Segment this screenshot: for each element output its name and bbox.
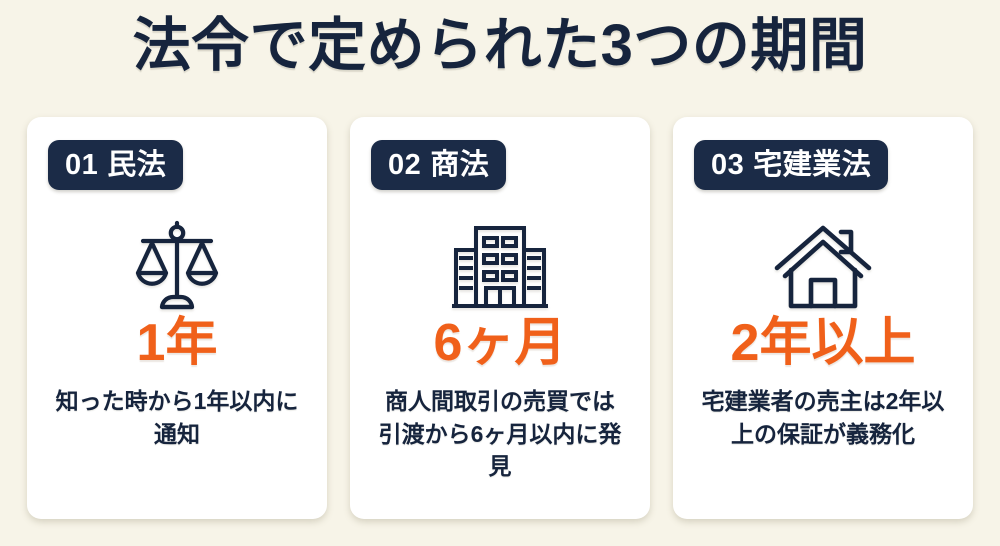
card-minpo[interactable]: 01 民法 [27, 117, 327, 519]
badge-03: 03 宅建業法 [694, 140, 888, 190]
badge-text-01: 01 民法 [65, 151, 166, 180]
badge-text-03: 03 宅建業法 [711, 151, 871, 180]
headline-02: 6ヶ月 [350, 315, 650, 372]
badge-number-03: 03 [711, 151, 744, 180]
badge-number-02: 02 [388, 151, 421, 180]
description-03: 宅建業者の売主は2年以上の保証が義務化 [697, 385, 949, 450]
badge-law-02: 商法 [430, 151, 489, 180]
description-01: 知った時から1年以内に通知 [51, 385, 303, 450]
description-02: 商人間取引の売買では引渡から6ヶ月以内に発見 [374, 385, 626, 483]
badge-law-01: 民法 [107, 151, 166, 180]
card-takken[interactable]: 03 宅建業法 2年以上 宅建業者の売主は2年以上の保証が [673, 117, 973, 519]
page-title-container: 法令で定められた3つの期間 [0, 14, 1000, 79]
badge-02: 02 商法 [371, 140, 506, 190]
badge-law-03: 宅建業法 [753, 151, 871, 180]
balance-scale-icon [27, 217, 327, 317]
headline-03: 2年以上 [673, 315, 973, 372]
badge-text-02: 02 商法 [388, 151, 489, 180]
office-building-icon [350, 217, 650, 317]
cards-row: 01 民法 [27, 117, 973, 519]
house-icon [673, 217, 973, 317]
card-shoho[interactable]: 02 商法 [350, 117, 650, 519]
badge-01: 01 民法 [48, 140, 183, 190]
page-title: 法令で定められた3つの期間 [133, 14, 868, 79]
infographic-page: 法令で定められた3つの期間 01 民法 [0, 0, 1000, 546]
badge-number-01: 01 [65, 151, 98, 180]
headline-01: 1年 [27, 315, 327, 372]
